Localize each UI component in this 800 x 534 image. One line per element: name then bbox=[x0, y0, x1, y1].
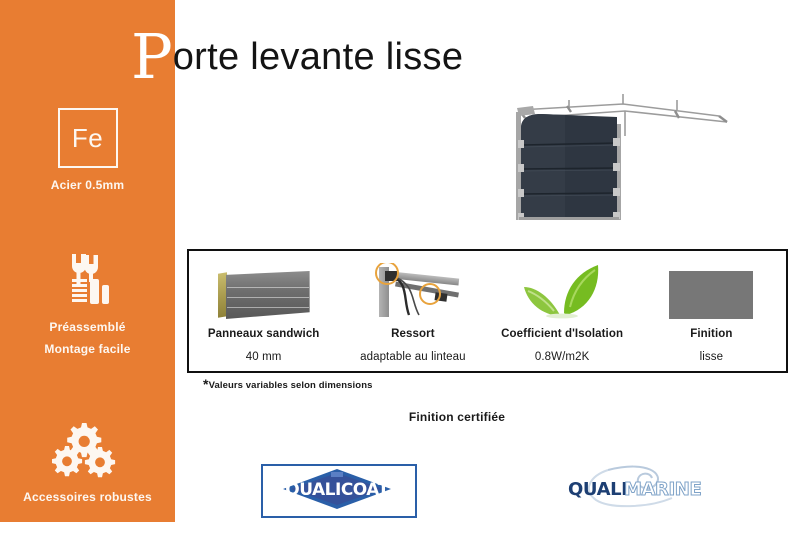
green-leaves-icon bbox=[488, 251, 637, 319]
feature-value: 40 mm bbox=[189, 351, 338, 363]
page-title: Porte levante lisse bbox=[131, 22, 463, 84]
feature-title: Coefficient d'Isolation bbox=[488, 328, 637, 340]
footnote: *Valeurs variables selon dimensions bbox=[203, 380, 372, 391]
qualicoat-logo: QUALICOAT bbox=[261, 464, 417, 518]
feature-ressort: Ressort adaptable au linteau bbox=[338, 251, 487, 371]
sidebar-item-preassemble[interactable]: Préassemblé Montage facile bbox=[0, 250, 175, 358]
svg-text:QUALICOAT: QUALICOAT bbox=[285, 480, 389, 500]
certification-heading: Finition certifiée bbox=[0, 410, 800, 424]
feature-title: Ressort bbox=[338, 328, 487, 340]
qualimarine-logo: QUALI MARINE bbox=[556, 464, 718, 514]
feature-value: 0.8W/m2K bbox=[488, 351, 637, 363]
gears-icon bbox=[0, 420, 175, 480]
sidebar-item-label: Préassemblé bbox=[0, 319, 175, 336]
feature-value: adaptable au linteau bbox=[338, 351, 487, 363]
certification-heading-text: Finition certifiée bbox=[409, 410, 505, 424]
page-title-initial: P bbox=[131, 20, 173, 93]
feature-coefficient-isolation: Coefficient d'Isolation 0.8W/m2K bbox=[488, 251, 637, 371]
sidebar-item-sublabel: Montage facile bbox=[0, 341, 175, 358]
features-panel: Panneaux sandwich 40 mm Ressort adaptabl… bbox=[187, 249, 788, 373]
sidebar-item-acier[interactable]: Fe Acier 0.5mm bbox=[0, 108, 175, 194]
sandwich-panel-image bbox=[189, 251, 338, 319]
feature-finition: Finition lisse bbox=[637, 251, 786, 371]
finish-swatch-image bbox=[637, 251, 786, 319]
footnote-text: Valeurs variables selon dimensions bbox=[209, 380, 373, 391]
tools-wrench-icon bbox=[0, 250, 175, 310]
feature-title: Panneaux sandwich bbox=[189, 328, 338, 340]
page-title-text: orte levante lisse bbox=[173, 36, 464, 78]
sidebar-item-label: Accessoires robustes bbox=[0, 489, 175, 506]
svg-text:MARINE: MARINE bbox=[624, 479, 701, 500]
svg-text:QUALI: QUALI bbox=[568, 479, 627, 500]
sidebar-item-label: Acier 0.5mm bbox=[0, 177, 175, 194]
feature-value: lisse bbox=[637, 351, 786, 363]
sidebar-item-accessoires[interactable]: Accessoires robustes bbox=[0, 420, 175, 506]
spring-mechanism-image bbox=[338, 251, 487, 319]
sectional-garage-door-image bbox=[505, 88, 745, 224]
fe-element-icon: Fe bbox=[58, 108, 118, 168]
feature-panneaux-sandwich: Panneaux sandwich 40 mm bbox=[189, 251, 338, 371]
feature-title: Finition bbox=[637, 328, 786, 340]
